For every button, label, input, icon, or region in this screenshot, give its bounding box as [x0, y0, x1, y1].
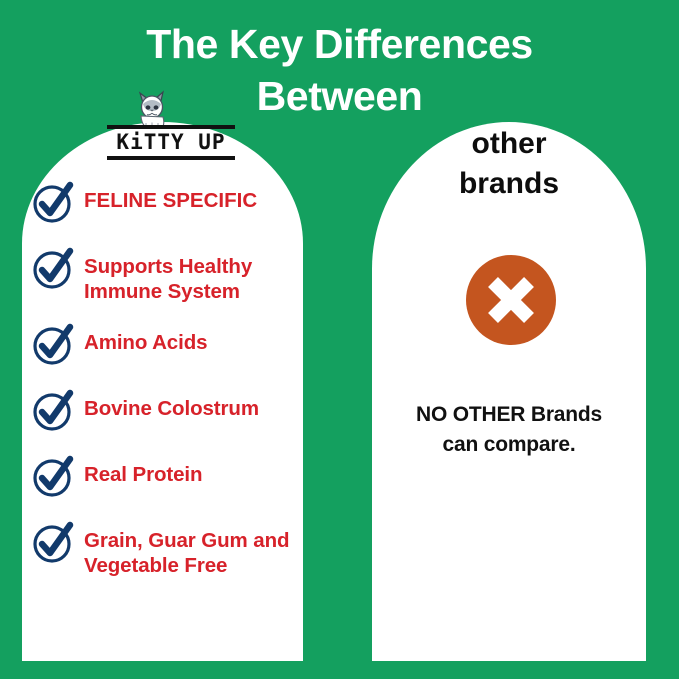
- x-circle-icon: [466, 255, 556, 345]
- list-item-label: Grain, Guar Gum and Vegetable Free: [84, 522, 306, 578]
- list-item: Grain, Guar Gum and Vegetable Free: [30, 522, 306, 578]
- list-item: Supports Healthy Immune System: [30, 248, 306, 304]
- list-item-label: Bovine Colostrum: [84, 390, 259, 421]
- list-item-label: FELINE SPECIFIC: [84, 182, 257, 213]
- list-item: Bovine Colostrum: [30, 390, 306, 436]
- brand-rule-bottom: [107, 156, 235, 160]
- other-brands-title: other brands: [372, 124, 646, 203]
- page-title: The Key Differences Between: [0, 18, 679, 123]
- check-circle-icon: [30, 179, 76, 225]
- list-item-label: Real Protein: [84, 456, 202, 487]
- check-circle-icon: [30, 321, 76, 367]
- check-circle-icon: [30, 519, 76, 565]
- check-circle-icon: [30, 453, 76, 499]
- no-compare-statement: NO OTHER Brands can compare.: [378, 400, 640, 461]
- list-item: Real Protein: [30, 456, 306, 502]
- list-item-label: Amino Acids: [84, 324, 207, 355]
- cat-icon: [132, 87, 172, 129]
- list-item: FELINE SPECIFIC: [30, 182, 306, 228]
- check-circle-icon: [30, 245, 76, 291]
- brand-wordmark: KiTTY UP: [107, 125, 235, 160]
- list-item: Amino Acids: [30, 324, 306, 370]
- benefits-list: FELINE SPECIFIC Supports Healthy Immune …: [30, 182, 306, 578]
- brand-logo: KiTTY UP: [22, 112, 303, 172]
- list-item-label: Supports Healthy Immune System: [84, 248, 306, 304]
- brand-name: KiTTY UP: [107, 129, 235, 156]
- comparison-poster: The Key Differences Between KiTTY UP: [0, 0, 679, 679]
- check-circle-icon: [30, 387, 76, 433]
